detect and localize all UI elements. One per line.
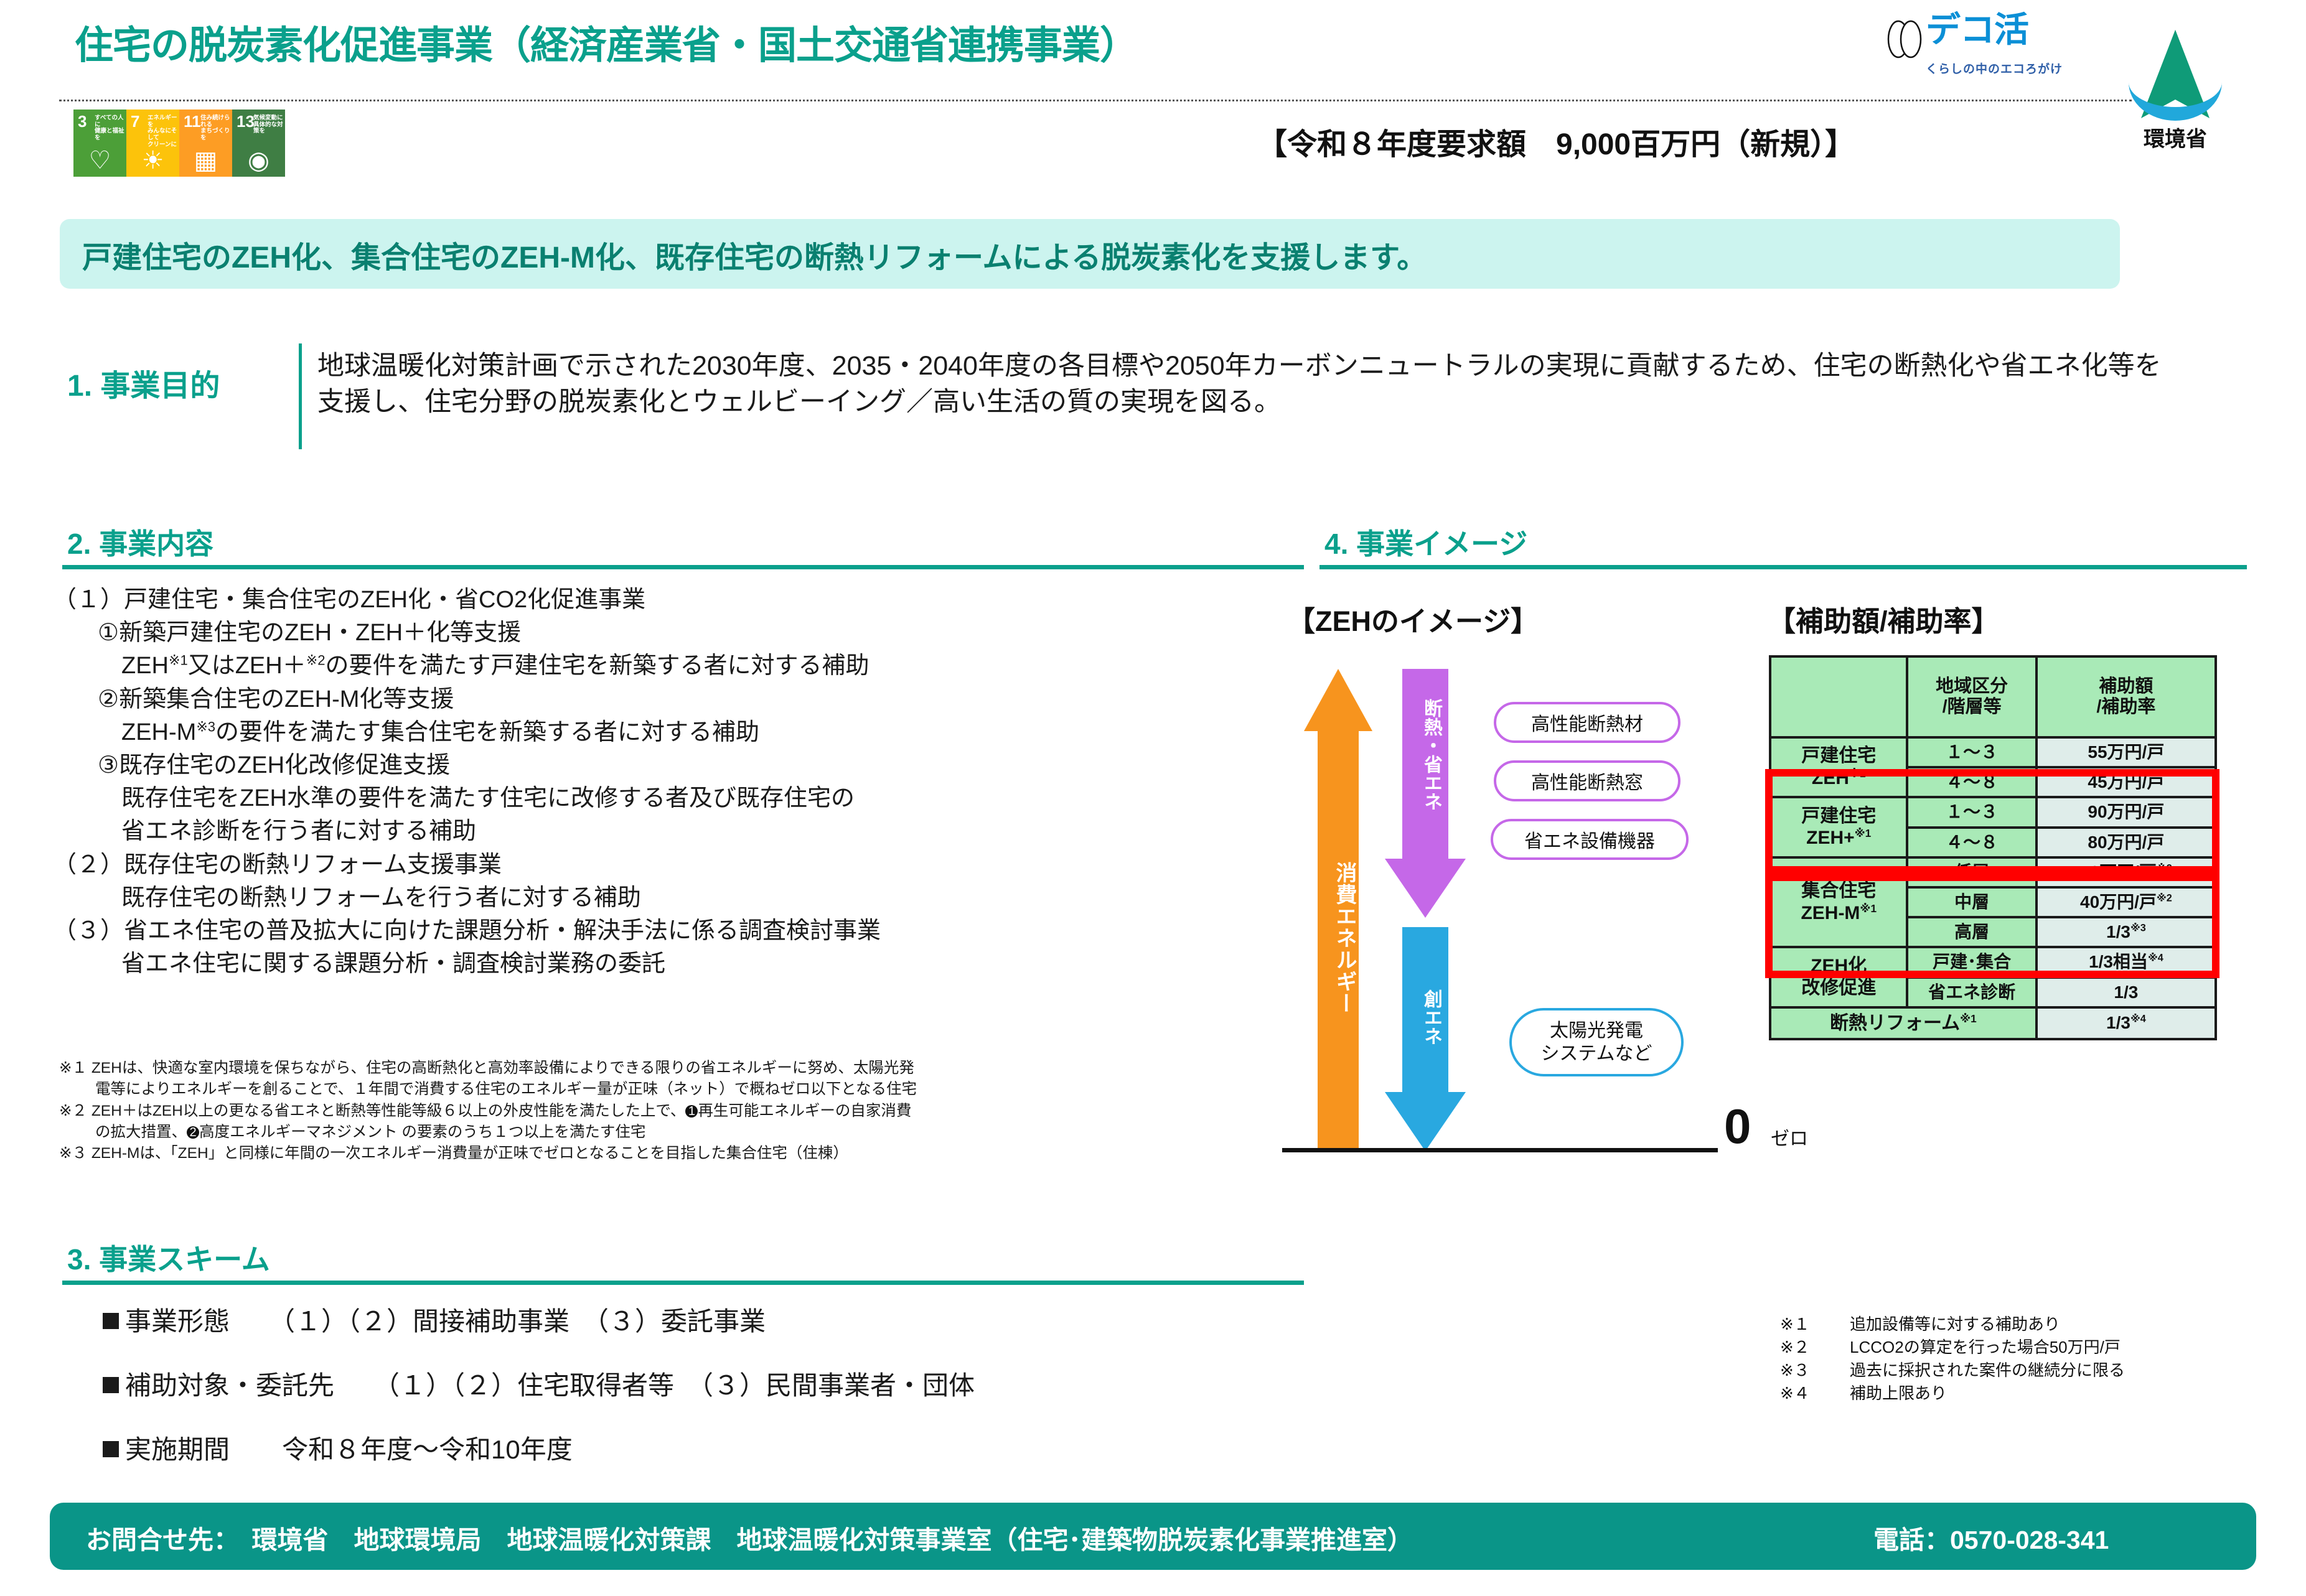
section2-line: ZEH-M※3の要件を満たす集合住宅を新築する者に対する補助 (53, 716, 1304, 749)
city-icon: ▦ (179, 148, 232, 173)
cell-amount: 1/3※4 (2036, 1007, 2216, 1040)
table-header-amount: 補助額/補助率 (2036, 656, 2216, 737)
cell-amount: 90万円/戸 (2036, 797, 2216, 827)
footnote-line: ※３過去に採択された案件の継続分に限る (1780, 1359, 2125, 1382)
cell-amount: 80万円/戸 (2036, 828, 2216, 857)
consume-energy-arrow: 消費エネルギー (1304, 669, 1372, 1151)
create-energy-arrow: 創エネ (1385, 927, 1466, 1151)
subsidy-table-title: 【補助額/補助率】 (1768, 599, 2000, 639)
cell-amount: 45万円/戸 (2036, 767, 2216, 797)
slide-page: 住宅の脱炭素化促進事業（経済産業省・国土交通省連携事業） 3 すべての人に 健康… (0, 0, 2306, 1596)
sdg-number: 3 (78, 113, 87, 129)
consume-energy-label: 消費エネルギー (1323, 862, 1355, 1014)
sun-icon: ☀ (126, 148, 179, 173)
footnote-key: ※４ (1780, 1382, 1850, 1405)
footnote-text: 追加設備等に対する補助あり (1850, 1315, 2060, 1333)
footnote-line: の拡大措置、2高度エネルギーマネジメント の要素のうち１つ以上を満たす住宅 (59, 1122, 1329, 1143)
zero-value: 0 (1724, 1098, 1751, 1155)
cell-region: 中層 (1907, 887, 2036, 917)
section2-heading: 2. 事業内容 (67, 521, 213, 562)
cell-region: 低層 (1907, 857, 2036, 887)
bullet-square-icon (103, 1313, 119, 1329)
section2-line: ①新築戸建住宅のZEH・ZEH＋化等支援 (53, 617, 1304, 650)
section2-body: （１）戸建住宅・集合住宅のZEH化・省CO2化促進事業 ①新築戸建住宅のZEH・… (53, 584, 1304, 981)
scheme-row: 実施期間 令和８年度～令和10年度 (103, 1429, 1410, 1467)
cell-region: 戸建･集合 (1907, 947, 2036, 977)
arrow-head-icon (1385, 1092, 1466, 1151)
footnote-text: 補助上限あり (1850, 1384, 1947, 1402)
section2-line: ZEH※1又はZEH＋※2の要件を満たす戸建住宅を新築する者に対する補助 (53, 650, 1304, 683)
heartbeat-icon: ♡ (73, 148, 126, 173)
section2-line: ②新築集合住宅のZEH-M化等支援 (53, 683, 1304, 716)
cell-region: 省エネ診断 (1907, 978, 2036, 1007)
scheme-row: 事業形態 （１）（２）間接補助事業 （３）委託事業 (103, 1300, 1410, 1338)
sdg-caption: 気候変動に 具体的な対策を (253, 115, 285, 135)
deco-leaf-icon (1886, 20, 1923, 58)
section2-line: （１）戸建住宅・集合住宅のZEH化・省CO2化促進事業 (53, 584, 1304, 617)
footnote-line: 電等によりエネルギーを創ることで、１年間で消費する住宅のエネルギー量が正味（ネッ… (59, 1079, 1329, 1100)
globe-icon: ◉ (232, 148, 285, 173)
table-row: 戸建住宅ZEH+※1 １～３ 90万円/戸 (1770, 797, 2216, 827)
arrow-head-icon (1385, 859, 1466, 918)
sdg-caption: すべての人に 健康と福祉を (95, 115, 126, 142)
sdg-icon-group: 3 すべての人に 健康と福祉を ♡ 7 エネルギーを みんなにそして クリーンに… (73, 110, 285, 177)
sdg-icon-11: 11 住み続けられる まちづくりを ▦ (179, 110, 232, 177)
footnote-line: ※１追加設備等に対する補助あり (1780, 1313, 2125, 1336)
cell-amount: 40万円/戸※2 (2036, 857, 2216, 887)
section3-underline (62, 1281, 1304, 1285)
section2-line: 省エネ診断を行う者に対する補助 (53, 815, 1304, 848)
cell-region: ４～８ (1907, 767, 2036, 797)
section3-heading: 3. 事業スキーム (67, 1237, 270, 1278)
pill-line: 太陽光発電 (1550, 1019, 1643, 1043)
sdg-number: 7 (131, 113, 139, 129)
sdg-icon-7: 7 エネルギーを みんなにそして クリーンに ☀ (126, 110, 179, 177)
insulation-arrow: 断熱・省エネ (1385, 669, 1466, 918)
section2-footnotes: ※１ ZEHは、快適な室内環境を保ちながら、住宅の高断熱化と高効率設備によりでき… (59, 1058, 1329, 1164)
table-row: 集合住宅ZEH-M※1 低層 40万円/戸※2 (1770, 857, 2216, 887)
scheme-row: 補助対象・委託先 （１）（２）住宅取得者等 （３）民間事業者・団体 (103, 1365, 1410, 1402)
deco-wordmark: デコ活 (1926, 12, 2028, 47)
arrow-head-icon (1304, 669, 1372, 731)
contact-footer: お問合せ先： 環境省 地球環境局 地球温暖化対策課 地球温暖化対策事業室（住宅･… (50, 1503, 2256, 1570)
cell-amount: 55万円/戸 (2036, 737, 2216, 767)
table-row: ZEH化改修促進 戸建･集合 1/3相当※4 (1770, 947, 2216, 977)
zeh-diagram-title: 【ZEHのイメージ】 (1287, 599, 1539, 639)
section2-line: 既存住宅をZEH水準の要件を満たす住宅に改修する者及び既存住宅の (53, 782, 1304, 815)
sdg-number: 13 (237, 113, 255, 129)
bullet-square-icon (103, 1377, 119, 1393)
footnote-key: ※３ (1780, 1359, 1850, 1382)
banner-text: 戸建住宅のZEH化、集合住宅のZEH-M化、既存住宅の断熱リフォームによる脱炭素… (82, 233, 1427, 276)
table-row: 戸建住宅ZEH※1 １～３ 55万円/戸 (1770, 737, 2216, 767)
section4-heading: 4. 事業イメージ (1324, 521, 1527, 562)
sdg-caption: 住み続けられる まちづくりを (200, 115, 232, 142)
contact-info: お問合せ先： 環境省 地球環境局 地球温暖化対策課 地球温暖化対策事業室（住宅･… (86, 1519, 1413, 1556)
cell-amount: 40万円/戸※2 (2036, 887, 2216, 917)
footnote-text: LCCO2の算定を行った場合50万円/戸 (1850, 1338, 2121, 1356)
budget-amount: 【令和８年度要求額 9,000百万円（新規）】 (1257, 119, 1855, 163)
footnote-line: ※２LCCO2の算定を行った場合50万円/戸 (1780, 1336, 2125, 1359)
sdg-icon-3: 3 すべての人に 健康と福祉を ♡ (73, 110, 126, 177)
table-footnotes: ※１追加設備等に対する補助あり ※２LCCO2の算定を行った場合50万円/戸 ※… (1780, 1313, 2125, 1405)
cell-region: １～３ (1907, 797, 2036, 827)
section3-body: 事業形態 （１）（２）間接補助事業 （３）委託事業 補助対象・委託先 （１）（２… (103, 1300, 1410, 1493)
section4-underline (1319, 565, 2247, 569)
sdg-caption: エネルギーを みんなにそして クリーンに (148, 115, 179, 148)
table-row: 断熱リフォーム※1 1/3※4 (1770, 1007, 2216, 1040)
row-header-zeh-renovation: ZEH化改修促進 (1770, 947, 1907, 1007)
cell-amount: 1/3相当※4 (2036, 947, 2216, 977)
section2-line: 省エネ住宅に関する課題分析・調査検討業務の委託 (53, 948, 1304, 981)
sdg-number: 11 (184, 113, 201, 129)
row-header-detached-zeh: 戸建住宅ZEH※1 (1770, 737, 1907, 797)
cell-region: ４～８ (1907, 828, 2036, 857)
footnote-line: ※３ ZEH-Mは、「ZEH」と同様に年間の一次エネルギー消費量が正味でゼロとな… (59, 1143, 1329, 1164)
section2-line: 既存住宅の断熱リフォームを行う者に対する補助 (53, 882, 1304, 915)
create-energy-label: 創エネ (1412, 989, 1440, 1045)
cell-amount: 1/3※3 (2036, 917, 2216, 947)
section2-line: ③既存住宅のZEH化改修促進支援 (53, 749, 1304, 782)
subsidy-table: 地域区分/階層等 補助額/補助率 戸建住宅ZEH※1 １～３ 55万円/戸 ４～… (1769, 655, 2217, 1040)
zero-caption: ゼロ (1771, 1123, 1808, 1150)
pill-solar-power-system: 太陽光発電 システムなど (1509, 1008, 1684, 1076)
pill-insulation-material: 高性能断熱材 (1494, 702, 1680, 743)
cell-region: １～３ (1907, 737, 2036, 767)
sdg-icon-13: 13 気候変動に 具体的な対策を ◉ (232, 110, 285, 177)
footnote-line: ※４補助上限あり (1780, 1382, 2125, 1405)
footnote-key: ※１ (1780, 1313, 1850, 1336)
cell-region: 高層 (1907, 917, 2036, 947)
section1-divider (299, 343, 302, 449)
cell-amount: 1/3 (2036, 978, 2216, 1007)
deco-katsu-logo: デコ活 くらしの中のエコろがけ (1886, 11, 2079, 85)
footnote-key: ※２ (1780, 1336, 1850, 1359)
header-divider (59, 100, 2132, 101)
table-header-row: 地域区分/階層等 補助額/補助率 (1770, 656, 2216, 737)
row-header-insulation-reform: 断熱リフォーム※1 (1770, 1007, 2036, 1040)
section1-body: 地球温暖化対策計画で示された2030年度、2035・2040年度の各目標や205… (317, 348, 2166, 420)
insulation-label: 断熱・省エネ (1412, 699, 1440, 811)
zero-baseline (1282, 1148, 1718, 1152)
table-header-region: 地域区分/階層等 (1907, 656, 2036, 737)
footnote-line: ※１ ZEHは、快適な室内環境を保ちながら、住宅の高断熱化と高効率設備によりでき… (59, 1058, 1329, 1079)
table-header-blank (1770, 656, 1907, 737)
footnote-text: 過去に採択された案件の継続分に限る (1850, 1361, 2125, 1379)
pill-line: システムなど (1540, 1042, 1652, 1066)
bullet-square-icon (103, 1441, 119, 1457)
row-header-apartment-zehm: 集合住宅ZEH-M※1 (1770, 857, 1907, 948)
section2-line: （２）既存住宅の断熱リフォーム支援事業 (53, 849, 1304, 882)
contact-phone: 電話：0570-028-341 (1873, 1519, 2109, 1556)
pill-insulation-window: 高性能断熱窓 (1494, 760, 1680, 801)
section2-underline (62, 565, 1304, 569)
pill-energy-saving-equipment: 省エネ設備機器 (1491, 819, 1689, 860)
section1-label: 1. 事業目的 (67, 361, 220, 404)
env-ministry-label: 環境省 (2116, 122, 2234, 152)
row-header-detached-zeh-plus: 戸建住宅ZEH+※1 (1770, 797, 1907, 857)
page-title: 住宅の脱炭素化促進事業（経済産業省・国土交通省連携事業） (75, 14, 1138, 70)
deco-tagline: くらしの中のエコろがけ (1926, 60, 2063, 77)
section2-line: （３）省エネ住宅の普及拡大に向けた課題分析・解決手法に係る調査検討事業 (53, 915, 1304, 948)
highlight-banner: 戸建住宅のZEH化、集合住宅のZEH-M化、既存住宅の断熱リフォームによる脱炭素… (60, 219, 2120, 289)
footnote-line: ※２ ZEH＋はZEH以上の更なる省エネと断熱等性能等級６以上の外皮性能を満たし… (59, 1101, 1329, 1122)
